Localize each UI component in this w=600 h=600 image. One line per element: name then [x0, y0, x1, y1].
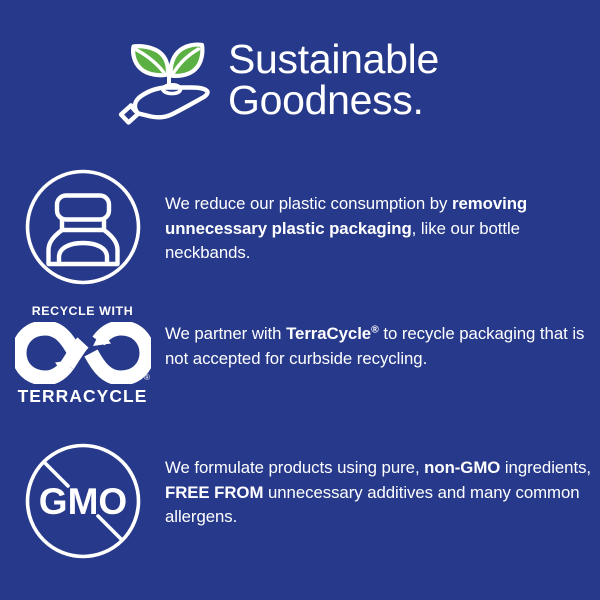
- terracycle-bottom-label: TERRACYCLE: [18, 388, 148, 405]
- headline-line-2: Goodness.: [228, 80, 439, 121]
- text-segment-bold: FREE FROM: [165, 483, 263, 502]
- poster-header: Sustainable Goodness.: [0, 22, 600, 137]
- text-segment: We partner with: [165, 324, 286, 343]
- text-segment: We reduce our plastic consumption by: [165, 194, 452, 213]
- terracycle-top-label: RECYCLE WITH: [32, 305, 134, 317]
- registered-mark: ®: [371, 324, 379, 335]
- page-title: Sustainable Goodness.: [228, 39, 439, 120]
- feature-row-gmo: GMO We formulate products using pure, no…: [0, 442, 600, 560]
- sustainable-goodness-poster: Sustainable Goodness. We reduce our plas…: [0, 0, 600, 600]
- feature-icon-terracycle: RECYCLE WITH ® TERRACYCLE: [0, 305, 165, 406]
- no-gmo-circle-icon: GMO: [24, 442, 142, 560]
- hand-holding-seedling-icon: [118, 30, 214, 130]
- feature-text-gmo: We formulate products using pure, non-GM…: [165, 442, 600, 530]
- registered-mark: ®: [144, 373, 150, 382]
- infinity-recycle-arrows-icon: ®: [15, 322, 151, 384]
- text-segment-bold: non-GMO: [424, 458, 500, 477]
- text-segment-bold: TerraCycle: [286, 324, 371, 343]
- bottle-neckband-circle-icon: [24, 168, 142, 286]
- terracycle-logo: RECYCLE WITH ® TERRACYCLE: [13, 305, 153, 406]
- feature-row-terracycle: RECYCLE WITH ® TERRACYCLE We partner wit…: [0, 305, 600, 406]
- headline-line-1: Sustainable: [228, 39, 439, 80]
- text-segment: ingredients,: [500, 458, 591, 477]
- feature-icon-plastic: [0, 168, 165, 286]
- gmo-label: GMO: [38, 481, 126, 522]
- feature-text-plastic: We reduce our plastic consumption by rem…: [165, 168, 600, 266]
- feature-icon-gmo: GMO: [0, 442, 165, 560]
- feature-text-terracycle: We partner with TerraCycle® to recycle p…: [165, 305, 600, 371]
- text-segment: We formulate products using pure,: [165, 458, 424, 477]
- feature-row-plastic: We reduce our plastic consumption by rem…: [0, 168, 600, 286]
